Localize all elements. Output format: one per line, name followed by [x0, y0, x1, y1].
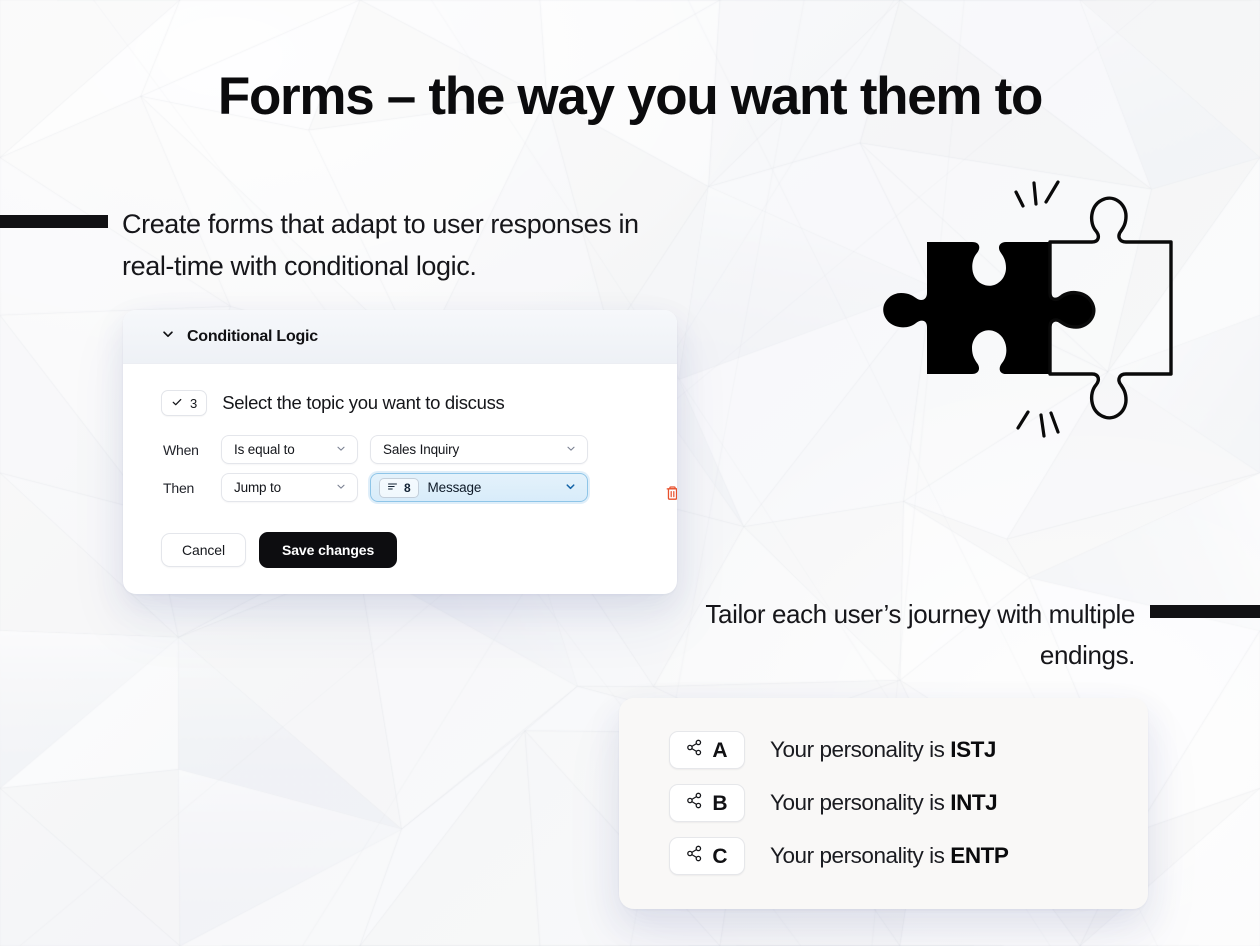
rules-group: When Is equal to Sales Inquiry — [161, 435, 647, 502]
target-field-chip: 8 — [379, 478, 419, 498]
when-operator-value: Is equal to — [234, 442, 295, 457]
ending-result: ISTJ — [950, 737, 996, 762]
conditional-logic-card: Conditional Logic 3 Select the topic you… — [123, 310, 677, 594]
accent-bar-left — [0, 215, 108, 228]
question-number: 3 — [190, 396, 197, 411]
cancel-button[interactable]: Cancel — [161, 533, 246, 567]
accent-bar-right — [1150, 605, 1260, 618]
chevron-down-icon[interactable] — [335, 442, 347, 457]
trash-icon — [665, 485, 678, 504]
rule-label-then: Then — [163, 480, 209, 496]
chevron-down-icon[interactable] — [564, 480, 577, 496]
target-field-number: 8 — [404, 481, 411, 495]
form-field-icon — [387, 481, 398, 495]
share-nodes-icon — [686, 739, 703, 761]
when-value: Sales Inquiry — [383, 442, 459, 457]
when-operator-select[interactable]: Is equal to — [221, 435, 358, 464]
ending-prefix: Your personality is — [770, 737, 950, 762]
then-action-select[interactable]: Jump to — [221, 473, 358, 502]
ending-letter: C — [712, 846, 727, 867]
ending-label: Your personality is INTJ — [770, 790, 997, 816]
page-title: Forms – the way you want them to — [0, 64, 1260, 130]
ending-result: ENTP — [950, 843, 1008, 868]
lede-paragraph-left: Create forms that adapt to user response… — [122, 203, 697, 287]
question-title: Select the topic you want to discuss — [222, 392, 504, 414]
lede-paragraph-right: Tailor each user’s journey with multiple… — [640, 594, 1135, 676]
puzzle-pieces-illustration — [860, 160, 1200, 450]
rule-row-when: When Is equal to Sales Inquiry — [163, 435, 647, 464]
ending-letter: B — [712, 793, 727, 814]
ending-prefix: Your personality is — [770, 790, 950, 815]
rule-label-when: When — [163, 442, 209, 458]
save-changes-button[interactable]: Save changes — [259, 532, 397, 568]
ending-label: Your personality is ISTJ — [770, 737, 996, 763]
ending-letter: A — [712, 740, 727, 761]
chevron-down-icon[interactable] — [161, 327, 175, 346]
when-value-select[interactable]: Sales Inquiry — [370, 435, 588, 464]
then-target-select[interactable]: 8 Message — [370, 473, 588, 502]
list-item[interactable]: B Your personality is INTJ — [619, 783, 1148, 823]
chevron-down-icon[interactable] — [565, 442, 577, 457]
share-nodes-icon — [686, 792, 703, 814]
ending-chip-c[interactable]: C — [669, 837, 745, 875]
ending-prefix: Your personality is — [770, 843, 950, 868]
card-actions: Cancel Save changes — [161, 532, 647, 568]
check-icon — [171, 396, 183, 411]
conditional-logic-title: Conditional Logic — [187, 328, 318, 346]
rule-row-then: Then Jump to — [163, 473, 647, 502]
question-number-badge: 3 — [161, 390, 207, 416]
ending-label: Your personality is ENTP — [770, 843, 1009, 869]
question-row: 3 Select the topic you want to discuss — [161, 390, 647, 416]
list-item[interactable]: A Your personality is ISTJ — [619, 730, 1148, 770]
delete-rule-button[interactable] — [661, 483, 677, 505]
chevron-down-icon[interactable] — [335, 480, 347, 495]
then-action-value: Jump to — [234, 480, 281, 495]
list-item[interactable]: C Your personality is ENTP — [619, 836, 1148, 876]
endings-card: A Your personality is ISTJ B Your person… — [619, 698, 1148, 909]
ending-result: INTJ — [950, 790, 997, 815]
share-nodes-icon — [686, 845, 703, 867]
ending-chip-b[interactable]: B — [669, 784, 745, 822]
conditional-logic-header[interactable]: Conditional Logic — [123, 310, 677, 364]
conditional-logic-body: 3 Select the topic you want to discuss W… — [123, 364, 677, 594]
then-target-value: Message — [428, 480, 482, 495]
ending-chip-a[interactable]: A — [669, 731, 745, 769]
